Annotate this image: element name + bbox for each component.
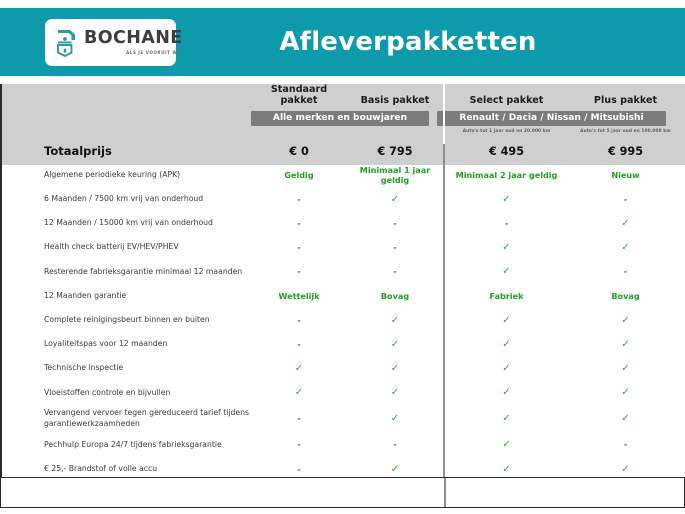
cell-value: ✓ (347, 387, 443, 398)
cell-value: ✓ (566, 387, 685, 398)
cell-value: - (566, 440, 685, 449)
cell-value: Bovag (566, 291, 685, 301)
feature-label: 12 Maanden garantie (0, 291, 251, 301)
cell-value: ✓ (447, 387, 566, 398)
total-price-label: Totaalprijs (0, 144, 251, 158)
feature-label: Vloeistoffen controle en bijvullen (0, 388, 251, 398)
bochane-mark-icon (54, 27, 80, 57)
cell-value: - (347, 243, 443, 252)
total-price-plus: € 995 (566, 145, 685, 158)
feature-label: Health check batterij EV/HEV/PHEV (0, 242, 251, 252)
group-label-all-brands: Alle merken en bouwjaren (251, 111, 429, 126)
total-price-select: € 495 (447, 145, 566, 158)
group-labels-row: Alle merken en bouwjaren Renault / Dacia… (0, 110, 685, 126)
cell-value: - (347, 267, 443, 276)
total-price-row: Totaalprijs € 0 € 795 € 495 € 995 (0, 137, 685, 165)
cell-value: - (251, 267, 347, 276)
table-row: Resterende fabrieksgarantie minimaal 12 … (0, 260, 685, 284)
feature-label: Complete reinigingsbeurt binnen en buite… (0, 315, 251, 325)
cell-value: - (566, 195, 685, 204)
package-header-basis: Basis pakket (347, 95, 443, 106)
cell-value: ✓ (251, 387, 347, 398)
feature-label: € 25,- Brandstof of volle accu (0, 464, 251, 474)
cell-value: ✓ (566, 218, 685, 229)
package-header-standaard: Standaard pakket (251, 84, 347, 106)
table-row: Health check batterij EV/HEV/PHEV--✓✓ (0, 236, 685, 260)
feature-label: Pechhulp Europa 24/7 tijdens fabrieksgar… (0, 440, 251, 450)
cell-value: - (251, 316, 347, 325)
cell-value: - (251, 414, 347, 423)
cell-value: ✓ (251, 363, 347, 374)
cell-value: - (347, 440, 443, 449)
cell-value: ✓ (447, 242, 566, 253)
cell-value: - (251, 340, 347, 349)
page-header: BOCHANE ALS JE VOORUIT WIL Afleverpakket… (0, 8, 685, 76)
feature-label: Technische inspectie (0, 363, 251, 373)
cell-value: - (251, 440, 347, 449)
package-header-plus: Plus pakket (566, 95, 685, 106)
cell-value: ✓ (566, 315, 685, 326)
brand-name: BOCHANE (84, 30, 183, 48)
cell-value: Bovag (347, 291, 443, 301)
table-row: Loyaliteitspas voor 12 maanden-✓✓✓ (0, 332, 685, 356)
cell-value: ✓ (566, 339, 685, 350)
feature-label: Resterende fabrieksgarantie minimaal 12 … (0, 267, 251, 277)
table-row: Algemene periodieke keuring (APK)GeldigM… (0, 163, 685, 187)
table-row: Technische inspectie✓✓✓✓ (0, 357, 685, 381)
table-row: 6 Maanden / 7500 km vrij van onderhoud-✓… (0, 187, 685, 211)
cell-value: ✓ (347, 194, 443, 205)
bochane-logo: BOCHANE ALS JE VOORUIT WIL (45, 19, 176, 66)
cell-value: Fabriek (447, 291, 566, 301)
total-price-standaard: € 0 (251, 145, 347, 158)
brand-tagline: ALS JE VOORUIT WIL (126, 50, 183, 55)
feature-label: 12 Maanden / 15000 km vrij van onderhoud (0, 218, 251, 228)
cell-value: ✓ (566, 363, 685, 374)
cell-value: ✓ (447, 413, 566, 424)
total-price-basis: € 795 (347, 145, 443, 158)
cell-value: - (566, 267, 685, 276)
cell-value: ✓ (566, 464, 685, 475)
table-row: Vloeistoffen controle en bijvullen✓✓✓✓ (0, 381, 685, 405)
cell-value: - (347, 219, 443, 228)
cell-value: ✓ (447, 194, 566, 205)
package-note-select: Auto's tot 1 jaar oud en 20.000 km (447, 129, 566, 134)
cell-value: ✓ (447, 266, 566, 277)
package-notes-row: Auto's tot 1 jaar oud en 20.000 km Auto'… (0, 126, 685, 137)
cell-value: Nieuw (566, 170, 685, 180)
cell-value: - (251, 195, 347, 204)
package-name-row: Standaard pakket Basis pakket Select pak… (0, 84, 685, 106)
cell-value: Minimaal 2 jaar geldig (447, 170, 566, 180)
bottom-group-divider (444, 478, 446, 507)
table-row: Complete reinigingsbeurt binnen en buite… (0, 308, 685, 332)
table-row: 12 Maanden garantieWettelijkBovagFabriek… (0, 284, 685, 308)
cell-value: ✓ (447, 363, 566, 374)
cell-value: ✓ (447, 315, 566, 326)
cell-value: ✓ (347, 339, 443, 350)
cell-value: ✓ (566, 413, 685, 424)
cell-value: ✓ (447, 464, 566, 475)
feature-label: 6 Maanden / 7500 km vrij van onderhoud (0, 194, 251, 204)
row-edge-marker (0, 84, 2, 481)
cell-value: - (251, 465, 347, 474)
feature-label: Algemene periodieke keuring (APK) (0, 170, 251, 180)
packages-table: Standaard pakket Basis pakket Select pak… (0, 84, 685, 481)
cell-value: ✓ (566, 242, 685, 253)
feature-label: Loyaliteitspas voor 12 maanden (0, 339, 251, 349)
cell-value: ✓ (447, 439, 566, 450)
table-row: Pechhulp Europa 24/7 tijdens fabrieksgar… (0, 433, 685, 457)
group-divider-header-gap (443, 84, 445, 144)
cell-value: ✓ (347, 363, 443, 374)
package-header-select: Select pakket (447, 95, 566, 106)
cell-value: ✓ (347, 464, 443, 475)
cell-value: Geldig (251, 170, 347, 180)
feature-label: Vervangend vervoer tegen gereduceerd tar… (0, 408, 251, 429)
table-row: 12 Maanden / 15000 km vrij van onderhoud… (0, 211, 685, 235)
cell-value: Minimaal 1 jaar geldig (347, 165, 443, 185)
table-row: Vervangend vervoer tegen gereduceerd tar… (0, 405, 685, 433)
cell-value: ✓ (447, 339, 566, 350)
page-title: Afleverpakketten (176, 27, 640, 57)
table-header-block: Standaard pakket Basis pakket Select pak… (0, 84, 685, 144)
cell-value: - (251, 243, 347, 252)
afleverpakketten-page: BOCHANE ALS JE VOORUIT WIL Afleverpakket… (0, 0, 685, 514)
cell-value: - (251, 219, 347, 228)
cell-value: Wettelijk (251, 291, 347, 301)
package-note-plus: Auto's tot 5 jaar oud en 100.000 km (566, 129, 685, 134)
cell-value: ✓ (347, 413, 443, 424)
cell-value: - (447, 219, 566, 228)
feature-rows: Algemene periodieke keuring (APK)GeldigM… (0, 163, 685, 481)
group-divider (443, 84, 445, 488)
table-bottom-border (0, 477, 685, 508)
cell-value: ✓ (347, 315, 443, 326)
group-label-renault-group: Renault / Dacia / Nissan / Mitsubishi (437, 111, 666, 126)
